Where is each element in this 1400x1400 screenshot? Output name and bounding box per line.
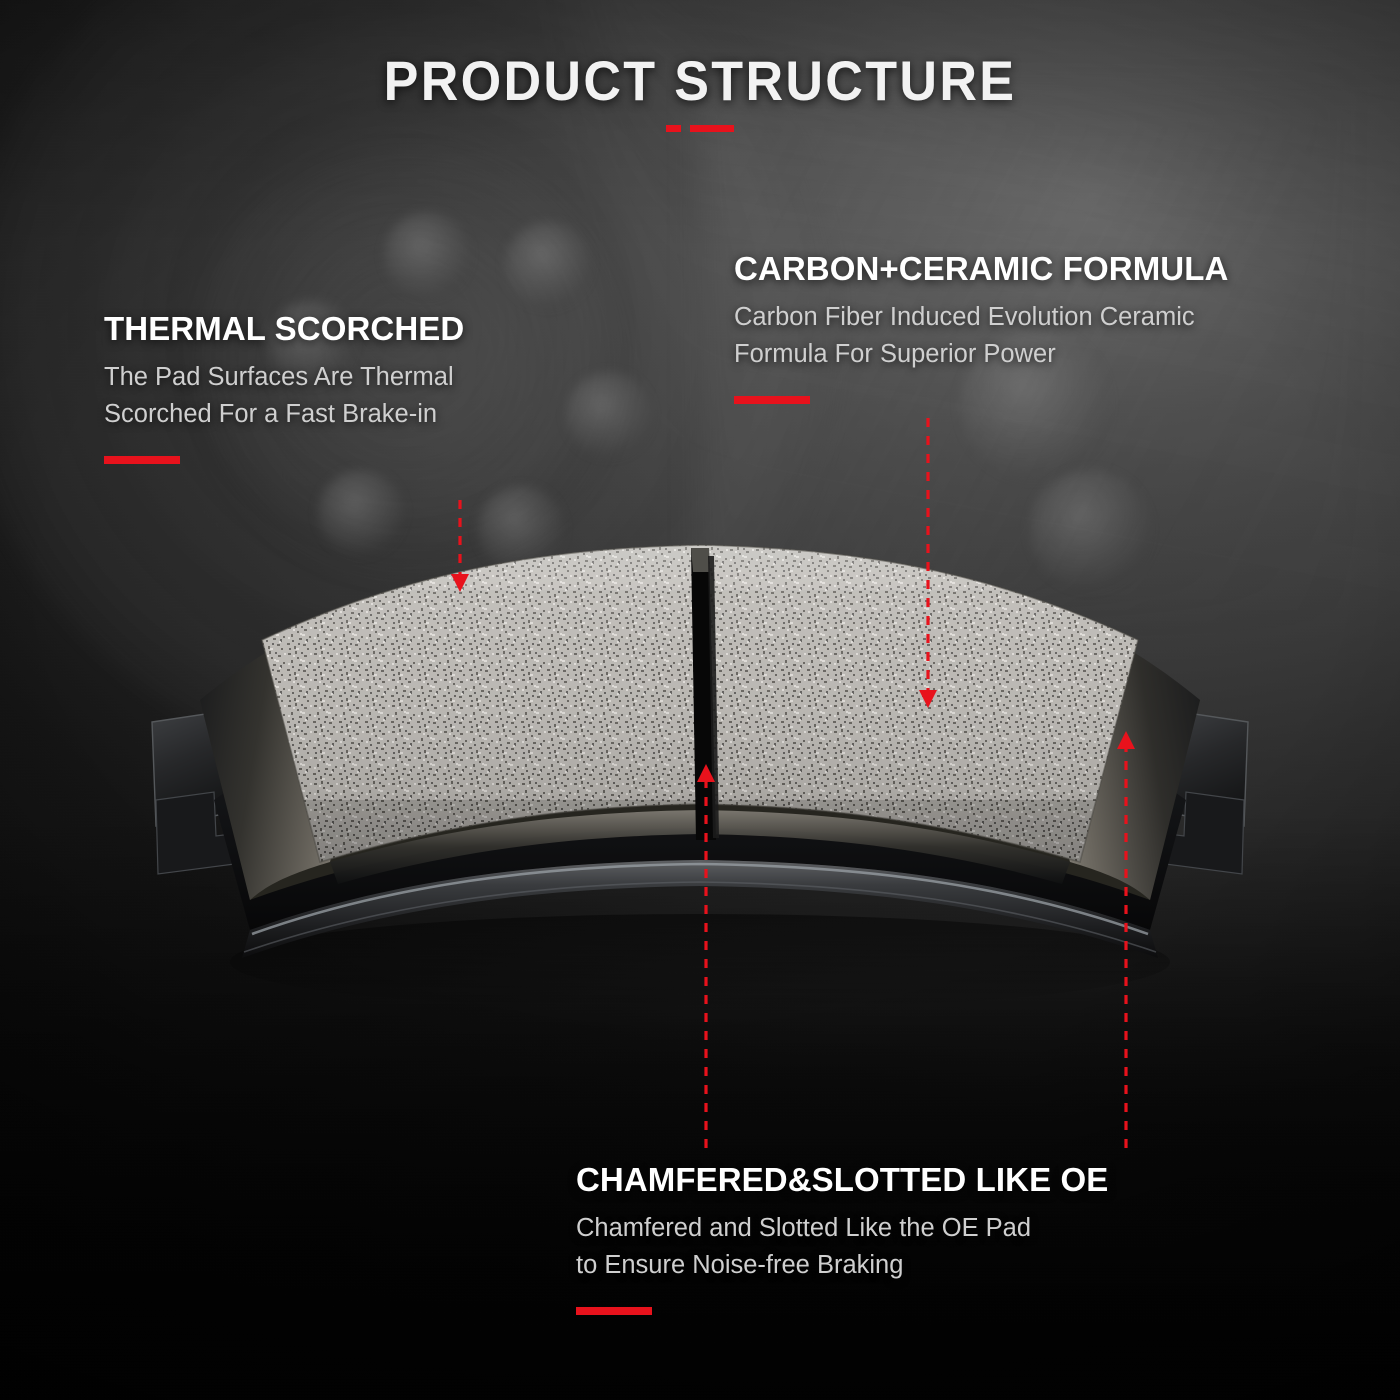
pad-drop-shadow <box>230 914 1170 1010</box>
callout-thermal-heading: THERMAL SCORCHED <box>104 312 464 347</box>
callout-thermal-scorched: THERMAL SCORCHED The Pad Surfaces Are Th… <box>104 312 464 464</box>
callout-chamfer-heading: CHAMFERED&SLOTTED LIKE OE <box>576 1163 1108 1198</box>
callout-chamfered-slotted-like-oe: CHAMFERED&SLOTTED LIKE OE Chamfered and … <box>576 1163 1108 1315</box>
callout-carbon-body-line-1: Carbon Fiber Induced Evolution Ceramic <box>734 299 1228 337</box>
callout-carbon-heading: CARBON+CERAMIC FORMULA <box>734 252 1228 287</box>
callout-carbon-body-line-2: Formula For Superior Power <box>734 336 1228 374</box>
pad-center-slot-top-chamfer <box>691 548 710 572</box>
callout-chamfer-accent-bar <box>576 1307 652 1315</box>
product-structure-infographic: PRODUCT STRUCTURE <box>0 0 1400 1400</box>
callout-thermal-body-line-1: The Pad Surfaces Are Thermal <box>104 359 464 397</box>
callout-carbon-accent-bar <box>734 396 810 404</box>
callout-carbon-ceramic-formula: CARBON+CERAMIC FORMULA Carbon Fiber Indu… <box>734 252 1228 404</box>
callout-chamfer-body-line-2: to Ensure Noise-free Braking <box>576 1247 1108 1285</box>
callout-chamfer-body-line-1: Chamfered and Slotted Like the OE Pad <box>576 1210 1108 1248</box>
callout-thermal-body-line-2: Scorched For a Fast Brake-in <box>104 396 464 434</box>
callout-thermal-accent-bar <box>104 456 180 464</box>
